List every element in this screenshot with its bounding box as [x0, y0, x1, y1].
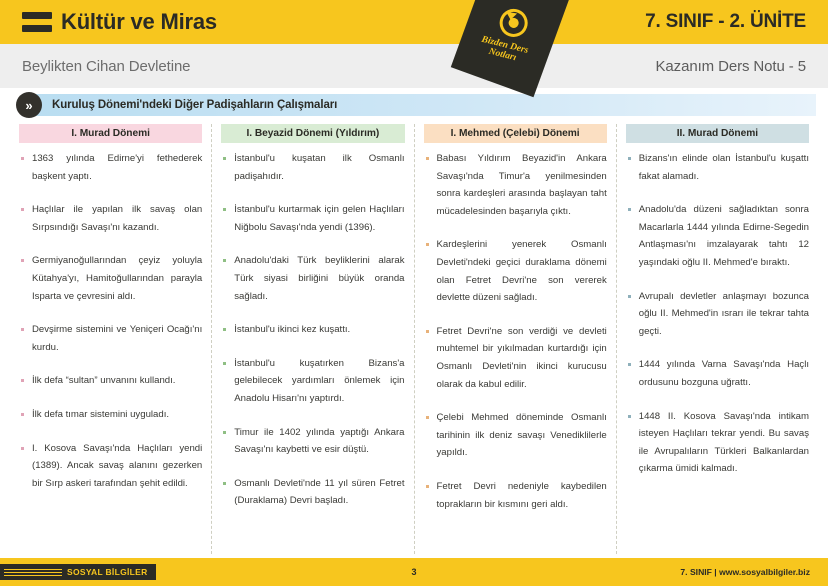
page-header: Kültür ve Miras 7. SINIF - 2. ÜNİTE: [0, 0, 828, 44]
two-bars-logo-icon: [22, 12, 52, 32]
list-item: İlk defa “sultan” unvanını kullandı.: [19, 372, 202, 390]
bullet-list: Bizans'ın elinde olan İstanbul'u kuşattı…: [626, 150, 809, 478]
page-footer: SOSYAL BİLGİLER 3 7. SINIF | www.sosyalb…: [0, 558, 828, 586]
double-chevron-right-icon: »: [16, 92, 42, 118]
section-title-bar: Kuruluş Dönemi'ndeki Diğer Padişahların …: [28, 94, 816, 116]
bullet-list: Babası Yıldırım Beyazid'in Ankara Savaşı…: [424, 150, 607, 513]
list-item: Devşirme sistemini ve Yeniçeri Ocağı'nı …: [19, 321, 202, 356]
list-item: Fetret Devri nedeniyle kaybedilen toprak…: [424, 478, 607, 513]
column-murad-2: II. Murad Dönemi Bizans'ın elinde olan İ…: [616, 124, 818, 554]
list-item: Avrupalı devletler anlaşmayı bozunca oğl…: [626, 288, 809, 341]
list-item: Çelebi Mehmed döneminde Osmanlı tarihini…: [424, 409, 607, 462]
list-item: İstanbul'u kuşatan ilk Osmanlı padişahıd…: [221, 150, 404, 185]
chapter-subtitle: Beylikten Cihan Devletine: [22, 58, 190, 75]
page-title: Kültür ve Miras: [61, 9, 217, 35]
footer-site-label: 7. SINIF | www.sosyalbilgiler.biz: [680, 567, 810, 577]
subtitle-bar: Beylikten Cihan Devletine Kazanım Ders N…: [0, 44, 828, 88]
list-item: 1444 yılında Varna Savaşı'nda Haçlı ordu…: [626, 356, 809, 391]
list-item: Kardeşlerini yenerek Osmanlı Devleti'nde…: [424, 236, 607, 306]
list-item: İstanbul'u ikinci kez kuşattı.: [221, 321, 404, 339]
list-item: Bizans'ın elinde olan İstanbul'u kuşattı…: [626, 150, 809, 185]
list-item: İstanbul'u kuşatırken Bizans'a gelebilec…: [221, 355, 404, 408]
list-item: Osmanlı Devleti'nde 11 yıl süren Fetret …: [221, 475, 404, 510]
list-item: Anadolu'da düzeni sağladıktan sonra Maca…: [626, 201, 809, 271]
list-item: Haçlılar ile yapılan ilk savaş olan Sırp…: [19, 201, 202, 236]
bullet-list: İstanbul'u kuşatan ilk Osmanlı padişahıd…: [221, 150, 404, 510]
list-item: Timur ile 1402 yılında yaptığı Ankara Sa…: [221, 424, 404, 459]
lesson-note-label: Kazanım Ders Notu - 5: [656, 58, 806, 75]
column-title: II. Murad Dönemi: [626, 124, 809, 143]
section-header: Kuruluş Dönemi'ndeki Diğer Padişahların …: [12, 94, 816, 116]
grade-unit-label: 7. SINIF - 2. ÜNİTE: [645, 11, 806, 33]
list-item: Germiyanoğullarından çeyiz yoluyla Kütah…: [19, 252, 202, 305]
column-murad-1: I. Murad Dönemi 1363 yılında Edirne'yi f…: [10, 124, 211, 554]
list-item: İlk defa tımar sistemini uyguladı.: [19, 406, 202, 424]
list-item: 1448 II. Kosova Savaşı'nda intikam istey…: [626, 408, 809, 478]
list-item: İstanbul'u kurtarmak için gelen Haçlılar…: [221, 201, 404, 236]
column-title: I. Murad Dönemi: [19, 124, 202, 143]
column-title: I. Mehmed (Çelebi) Dönemi: [424, 124, 607, 143]
content-columns: I. Murad Dönemi 1363 yılında Edirne'yi f…: [10, 124, 818, 554]
list-item: Anadolu'daki Türk beyliklerini alarak Tü…: [221, 252, 404, 305]
bullet-list: 1363 yılında Edirne'yi fethederek başken…: [19, 150, 202, 492]
column-mehmed-1: I. Mehmed (Çelebi) Dönemi Babası Yıldırı…: [414, 124, 616, 554]
list-item: Fetret Devri'ne son verdiği ve devleti m…: [424, 323, 607, 393]
section-title: Kuruluş Dönemi'ndeki Diğer Padişahların …: [52, 99, 337, 111]
circular-arrow-target-icon: [494, 4, 532, 42]
list-item: I. Kosova Savaşı'nda Haçlıları yendi (13…: [19, 440, 202, 493]
column-title: I. Beyazid Dönemi (Yıldırım): [221, 124, 404, 143]
column-beyazid-1: I. Beyazid Dönemi (Yıldırım) İstanbul'u …: [211, 124, 413, 554]
list-item: Babası Yıldırım Beyazid'in Ankara Savaşı…: [424, 150, 607, 220]
list-item: 1363 yılında Edirne'yi fethederek başken…: [19, 150, 202, 185]
